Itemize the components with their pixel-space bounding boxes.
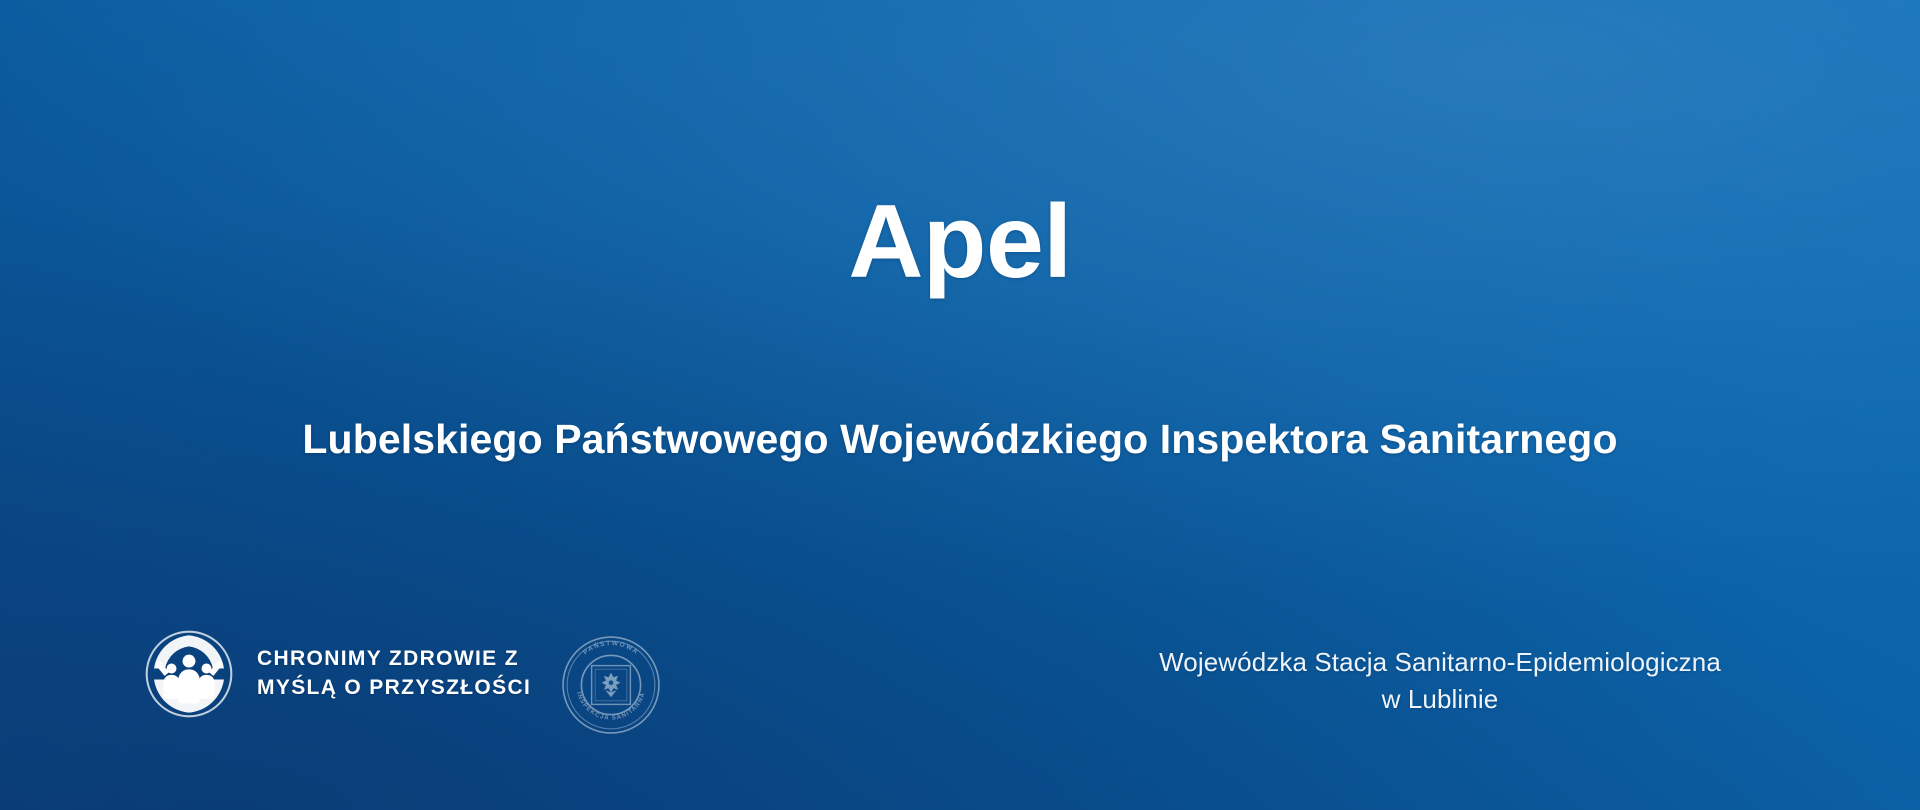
institution-name: Wojewódzka Stacja Sanitarno-Epidemiologi…: [1110, 644, 1770, 718]
institution-line-1: Wojewódzka Stacja Sanitarno-Epidemiologi…: [1110, 644, 1770, 681]
page-subtitle: Lubelskiego Państwowego Wojewódzkiego In…: [302, 415, 1617, 463]
state-seal: PAŃSTWOWA INSPEKCJA SANITARNA: [560, 634, 662, 736]
title-block: Apel: [0, 188, 1920, 297]
page-title: Apel: [848, 188, 1071, 297]
panstwowa-inspekcja-sanitarna-seal-icon: PAŃSTWOWA INSPEKCJA SANITARNA: [560, 634, 662, 736]
institution-line-2: w Lublinie: [1110, 681, 1770, 718]
presentation-slide: Apel Lubelskiego Państwowego Wojewódzkie…: [0, 0, 1920, 810]
brand-tagline: CHRONIMY ZDROWIE Z MYŚLĄ O PRZYSZŁOŚCI: [257, 645, 531, 703]
brand-lockup: CHRONIMY ZDROWIE Z MYŚLĄ O PRZYSZŁOŚCI: [143, 628, 531, 720]
subtitle-block: Lubelskiego Państwowego Wojewódzkiego In…: [0, 415, 1920, 463]
chronimy-zdrowie-circle-logo-icon: [143, 628, 235, 720]
